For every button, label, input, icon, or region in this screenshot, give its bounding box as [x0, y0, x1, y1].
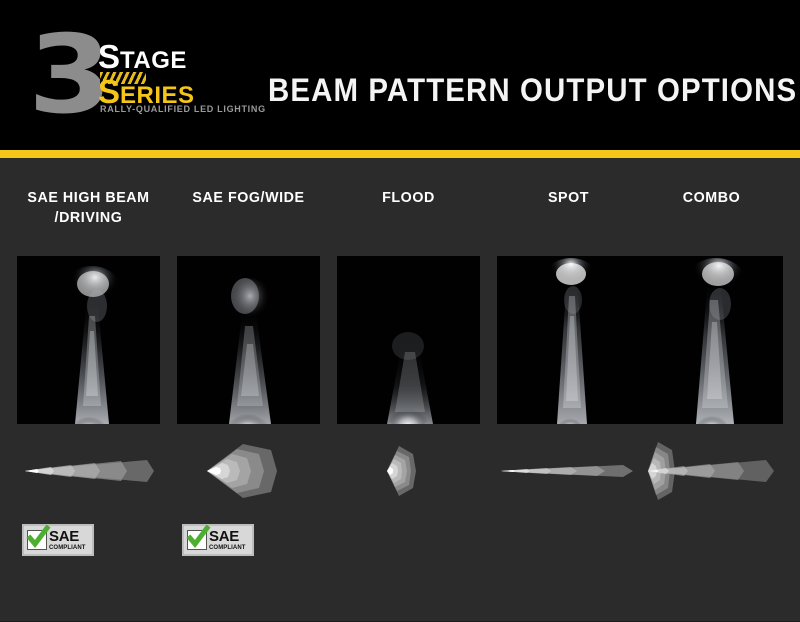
- beam-photo-spot: [497, 256, 640, 424]
- column-label-fog-wide-line1: SAE FOG/WIDE: [192, 189, 304, 206]
- beam-column-combo: COMBO: [640, 158, 783, 622]
- column-label-combo: COMBO: [632, 188, 791, 208]
- beam-photo-combo: [640, 256, 783, 424]
- beam-photo-fog-wide-image: [177, 256, 320, 424]
- check-icon: [187, 530, 207, 550]
- column-label-spot: SPOT: [489, 188, 648, 208]
- beam-diagram-flood-shape: [337, 440, 480, 502]
- beam-photo-driving: [17, 256, 160, 424]
- page-title: BEAM PATTERN OUTPUT OPTIONS: [268, 72, 797, 109]
- poster-header: 3 STAGE SERIES RALLY-QUALIFIED LED LIGHT…: [0, 0, 800, 150]
- beam-diagram-fog-wide-shape: [177, 440, 320, 502]
- sae-compliant-badge-driving: SAE COMPLIANT: [22, 524, 94, 556]
- beam-columns-grid: SAE HIGH BEAM /DRIVING: [0, 158, 800, 622]
- beam-diagram-combo-shape: [614, 440, 783, 502]
- column-label-driving-line1: SAE HIGH BEAM: [27, 189, 149, 206]
- logo-wordmark: STAGE SERIES: [98, 40, 248, 108]
- beam-diagram-combo: [614, 440, 783, 502]
- sae-badge-text-fog-wide: SAE COMPLIANT: [208, 529, 249, 551]
- sae-badge-title-fog-wide: SAE: [209, 529, 249, 544]
- sae-compliant-badge-fog-wide: SAE COMPLIANT: [182, 524, 254, 556]
- column-label-driving: SAE HIGH BEAM /DRIVING: [9, 188, 168, 228]
- brand-logo: 3 STAGE SERIES RALLY-QUALIFIED LED LIGHT…: [28, 28, 243, 126]
- logo-word-stage: STAGE: [98, 40, 248, 73]
- sae-badge-subtitle-fog-wide: COMPLIANT: [209, 545, 249, 551]
- column-label-flood: FLOOD: [329, 188, 488, 208]
- check-icon: [27, 530, 47, 550]
- logo-tagline: RALLY-QUALIFIED LED LIGHTING: [100, 104, 266, 114]
- beam-photo-driving-image: [17, 256, 160, 424]
- beam-column-spot: SPOT: [497, 158, 640, 622]
- column-label-combo-line1: COMBO: [683, 189, 740, 206]
- sae-badge-text-driving: SAE COMPLIANT: [48, 529, 89, 551]
- beam-photo-flood-image: [337, 256, 480, 424]
- beam-diagram-driving-shape: [17, 440, 160, 502]
- column-label-fog-wide: SAE FOG/WIDE: [169, 188, 328, 208]
- beam-column-fog-wide: SAE FOG/WIDE: [177, 158, 320, 622]
- beam-column-driving: SAE HIGH BEAM /DRIVING: [17, 158, 160, 622]
- beam-pattern-poster: 3 STAGE SERIES RALLY-QUALIFIED LED LIGHT…: [0, 0, 800, 622]
- beam-column-flood: FLOOD: [337, 158, 480, 622]
- beam-diagram-fog-wide: [177, 440, 320, 502]
- logo-stage-cap: S: [98, 38, 120, 75]
- beam-photo-fog-wide: [177, 256, 320, 424]
- sae-badge-title-driving: SAE: [49, 529, 89, 544]
- column-label-driving-line2: /DRIVING: [9, 208, 168, 228]
- beam-diagram-flood: [337, 440, 480, 502]
- sae-badge-subtitle-driving: COMPLIANT: [49, 545, 89, 551]
- header-divider: [0, 150, 800, 158]
- beam-diagram-driving: [17, 440, 160, 502]
- beam-photo-spot-image: [497, 256, 640, 424]
- column-label-spot-line1: SPOT: [548, 189, 589, 206]
- logo-stage-rest: TAGE: [120, 47, 187, 74]
- logo-numeral-3: 3: [28, 22, 105, 130]
- beam-photo-combo-image: [640, 256, 783, 424]
- column-label-flood-line1: FLOOD: [382, 189, 435, 206]
- beam-photo-flood: [337, 256, 480, 424]
